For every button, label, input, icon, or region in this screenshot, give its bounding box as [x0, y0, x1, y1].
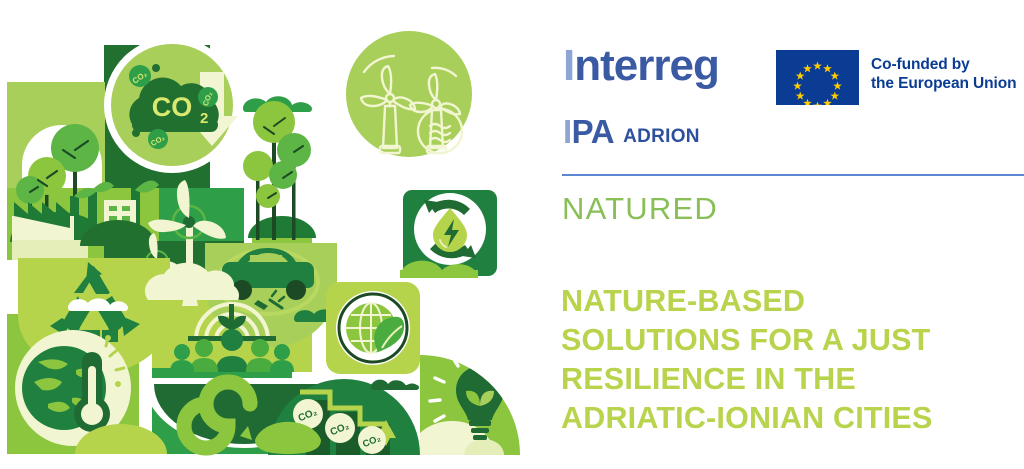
project-banner: CO 2 CO₂ CO₂ CO₂ — [0, 0, 1024, 469]
svg-text:CO: CO — [152, 92, 193, 122]
water-energy-recycle-icon — [400, 190, 497, 278]
eu-funding-caption: Co-funded by the European Union — [871, 50, 1016, 94]
interreg-logo: Interreg — [563, 44, 719, 88]
project-title-line-3: RESILIENCE IN THE — [561, 360, 1023, 399]
ipa-logo-text: IPA — [563, 115, 614, 148]
project-title-line-4: ADRIATIC-IONIAN CITIES — [561, 399, 1023, 438]
interreg-logo-text: nterreg — [574, 41, 719, 90]
european-union-flag — [776, 50, 859, 105]
right-text-panel: Interreg — [545, 0, 1024, 469]
eu-emblem: Co-funded by the European Union — [776, 50, 1016, 105]
project-title-line-1: NATURE-BASED — [561, 282, 1023, 321]
ipa-adrion-logo: IPA ADRION — [563, 115, 700, 148]
header-divider — [562, 174, 1024, 176]
project-title-line-2: SOLUTIONS FOR A JUST — [561, 321, 1023, 360]
logo-row: Interreg — [563, 44, 1023, 106]
globe-leaf-icon — [326, 282, 420, 374]
project-title: NATURE-BASED SOLUTIONS FOR A JUST RESILI… — [561, 282, 1023, 438]
adrion-logo-text: ADRION — [623, 127, 700, 148]
ipa-logo-rest: PA — [572, 113, 614, 150]
eu-caption-line-2: the European Union — [871, 74, 1016, 93]
interreg-logo-initial: I — [563, 41, 574, 90]
bush-shape-4 — [371, 380, 419, 390]
co2-reduction-icon: CO 2 CO₂ CO₂ CO₂ — [104, 37, 240, 173]
eu-stars — [776, 50, 859, 105]
green-sustainability-collage: CO 2 CO₂ CO₂ CO₂ — [0, 0, 530, 469]
wind-turbine-icon — [346, 31, 472, 157]
project-acronym: NATURED — [562, 192, 718, 226]
svg-text:2: 2 — [200, 110, 208, 127]
forest-trees-icon-2 — [243, 101, 316, 244]
eu-caption-line-1: Co-funded by — [871, 55, 1016, 74]
ipa-logo-initial: I — [563, 113, 572, 150]
green-idea-bulb-icon — [410, 351, 530, 455]
